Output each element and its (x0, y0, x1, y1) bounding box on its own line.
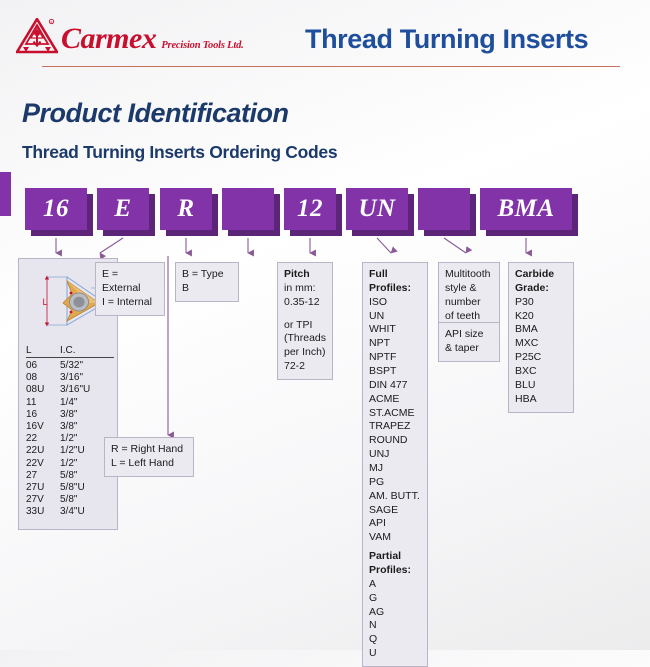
size-cell-ic: 5/8" (60, 493, 114, 505)
page-subtitle: Thread Turning Inserts Ordering Codes (22, 142, 337, 163)
size-cell-l: 22V (26, 457, 60, 469)
size-cell-ic: 3/16" (60, 372, 114, 384)
code-box-label: 16 (25, 188, 87, 230)
code-box-internal-external[interactable]: E (97, 188, 149, 230)
table-row: 27V5/8" (26, 493, 114, 505)
size-cell-ic: 3/4"U (60, 506, 114, 518)
list-item: G (369, 592, 421, 606)
table-row: 163/8" (26, 408, 114, 420)
page-title: Product Identification (22, 98, 289, 129)
list-item: N (369, 619, 421, 633)
size-cell-ic: 3/8" (60, 420, 114, 432)
list-item: ROUND (369, 434, 421, 448)
table-row: 27U5/8"U (26, 481, 114, 493)
brand-name: Carmex (61, 24, 156, 54)
list-item: ACME (369, 393, 421, 407)
list-item: ST.ACME (369, 407, 421, 421)
callout-hand-direction: R = Right Hand L = Left Hand (104, 437, 194, 477)
external-line: E = External (102, 268, 158, 296)
list-item: WHIT (369, 323, 421, 337)
callout-profiles: Full Profiles: ISOUNWHITNPTNPTFBSPTDIN 4… (362, 262, 428, 667)
partial-profiles-heading-2: Profiles: (369, 564, 411, 576)
code-box-label: R (160, 188, 212, 230)
list-item: VAM (369, 531, 421, 545)
size-cell-l: 08 (26, 372, 60, 384)
list-item: UNJ (369, 448, 421, 462)
left-hand-line: L = Left Hand (111, 457, 187, 471)
list-item: NPTF (369, 351, 421, 365)
pitch-spacer (284, 310, 326, 319)
size-cell-ic: 3/8" (60, 408, 114, 420)
size-cell-l: 16V (26, 420, 60, 432)
pitch-tpi-sub2: per Inch) (284, 346, 326, 360)
size-cell-ic: 5/32" (60, 358, 114, 372)
page-header: R Carmex Precision Tools Ltd. Thread Tur… (0, 0, 650, 72)
api-line-2: & taper (445, 342, 493, 356)
callout-carbide-grade: Carbide Grade: P30K20BMAMXCP25CBXCBLUHBA (508, 262, 574, 413)
list-item: UN (369, 310, 421, 324)
size-cell-l: 08U (26, 384, 60, 396)
pitch-tpi-label: or TPI (284, 319, 326, 333)
size-cell-l: 33U (26, 506, 60, 518)
list-item: NPT (369, 337, 421, 351)
pitch-tpi-range: 72-2 (284, 360, 326, 374)
list-item: BSPT (369, 365, 421, 379)
list-item: P25C (515, 351, 567, 365)
size-cell-l: 11 (26, 396, 60, 408)
list-item: ISO (369, 296, 421, 310)
size-cell-l: 27U (26, 481, 60, 493)
list-item: AM. BUTT. (369, 490, 421, 504)
carmex-triangle-logo-icon: R (16, 18, 58, 54)
list-item: Q (369, 633, 421, 647)
type-b-line: B = Type B (182, 268, 232, 296)
callout-api-size: API size & taper (438, 322, 500, 362)
callout-pitch: Pitch in mm: 0.35-12 or TPI (Threads per… (277, 262, 333, 380)
code-box-label: E (97, 188, 149, 230)
pitch-heading: Pitch (284, 268, 310, 280)
list-item: SAGE (369, 504, 421, 518)
table-row: 22V1/2" (26, 457, 114, 469)
carmex-logo: R Carmex Precision Tools Ltd. (16, 18, 244, 54)
table-row: 111/4" (26, 396, 114, 408)
list-item: MJ (369, 462, 421, 476)
code-box-carbide-grade[interactable]: BMA (480, 188, 572, 230)
code-box-label (418, 188, 470, 230)
table-row: 22U1/2"U (26, 445, 114, 457)
code-box-size[interactable]: 16 (25, 188, 87, 230)
code-box-label (222, 188, 274, 230)
size-cell-l: 22 (26, 433, 60, 445)
size-cell-l: 22U (26, 445, 60, 457)
full-profiles-heading-1: Full (369, 268, 388, 280)
internal-line: I = Internal (102, 296, 158, 310)
list-item: TRAPEZ (369, 420, 421, 434)
svg-text:R: R (50, 20, 52, 24)
table-row: 275/8" (26, 469, 114, 481)
table-row: 083/16" (26, 372, 114, 384)
size-table-col-l: L (26, 345, 60, 358)
right-hand-line: R = Right Hand (111, 443, 187, 457)
carbide-heading-2: Grade: (515, 282, 549, 294)
size-cell-l: 27 (26, 469, 60, 481)
pitch-tpi-sub1: (Threads (284, 332, 326, 346)
size-cell-ic: 1/4" (60, 396, 114, 408)
callout-type-b: B = Type B (175, 262, 239, 302)
code-box-type[interactable] (222, 188, 274, 230)
size-cell-l: 06 (26, 358, 60, 372)
list-item: BLU (515, 379, 567, 393)
list-item: AG (369, 606, 421, 620)
list-item: BXC (515, 365, 567, 379)
size-cell-ic: 3/16"U (60, 384, 114, 396)
header-title: Thread Turning Inserts (305, 24, 588, 55)
size-table: L I.C. 065/32"083/16"08U3/16"U111/4"163/… (26, 345, 114, 518)
code-box-label: UN (346, 188, 408, 230)
table-row: 221/2" (26, 433, 114, 445)
size-cell-l: 27V (26, 493, 60, 505)
multitooth-line-2: style & (445, 282, 493, 296)
pitch-mm-label: in mm: (284, 282, 326, 296)
list-item: K20 (515, 310, 567, 324)
code-box-profile[interactable]: UN (346, 188, 408, 230)
list-item: BMA (515, 323, 567, 337)
left-accent-stripe (0, 172, 11, 216)
table-row: 08U3/16"U (26, 384, 114, 396)
table-row: 16V3/8" (26, 420, 114, 432)
list-item: P30 (515, 296, 567, 310)
list-item: U (369, 647, 421, 661)
multitooth-line-1: Multitooth (445, 268, 493, 282)
table-row: 065/32" (26, 358, 114, 372)
code-box-multitooth[interactable] (418, 188, 470, 230)
table-row: 33U3/4"U (26, 506, 114, 518)
list-item: DIN 477 (369, 379, 421, 393)
code-box-label: BMA (480, 188, 572, 230)
list-item: API (369, 517, 421, 531)
partial-profiles-heading-1: Partial (369, 550, 401, 562)
pitch-mm-range: 0.35-12 (284, 296, 326, 310)
list-item: HBA (515, 393, 567, 407)
code-box-hand[interactable]: R (160, 188, 212, 230)
header-divider (42, 66, 620, 67)
carbide-heading-1: Carbide (515, 268, 554, 280)
list-item: PG (369, 476, 421, 490)
size-cell-ic: 5/8"U (60, 481, 114, 493)
size-cell-l: 16 (26, 408, 60, 420)
code-box-pitch[interactable]: 12 (284, 188, 336, 230)
size-table-col-ic: I.C. (60, 345, 114, 358)
full-profiles-heading-2: Profiles: (369, 282, 411, 294)
multitooth-line-3: number (445, 296, 493, 310)
list-item: A (369, 578, 421, 592)
callout-multitooth: Multitooth style & number of teeth (438, 262, 500, 329)
size-table-header-row: L I.C. (26, 345, 114, 358)
code-box-label: 12 (284, 188, 336, 230)
dimension-label-l: L (42, 297, 47, 307)
callout-internal-external: E = External I = Internal (95, 262, 165, 316)
api-line-1: API size (445, 328, 493, 342)
list-item: MXC (515, 337, 567, 351)
brand-tagline: Precision Tools Ltd. (161, 40, 243, 51)
